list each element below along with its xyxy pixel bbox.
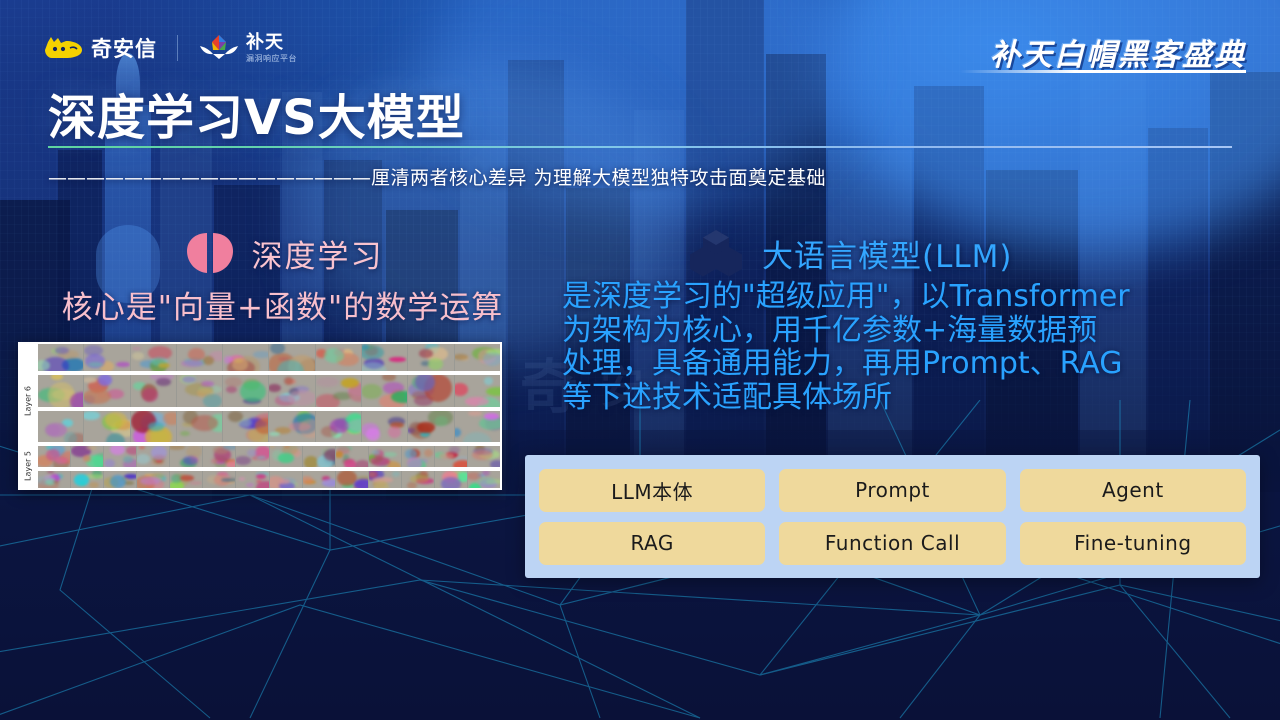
- figure-cell: [177, 375, 222, 407]
- figure-cell: [71, 471, 103, 488]
- brain-icon: [182, 230, 238, 276]
- figure-cell: [38, 471, 70, 488]
- figure-cell: [84, 344, 129, 371]
- subtitle: —————————————————厘清两者核心差异 为理解大模型独特攻击面奠定基…: [48, 163, 1238, 190]
- figure-cell: [408, 344, 453, 371]
- right-heading: 大语言模型(LLM): [762, 231, 1012, 276]
- figure-cell: [38, 411, 83, 442]
- figure-row: [38, 375, 500, 407]
- tech-card-prompt[interactable]: Prompt: [779, 469, 1005, 512]
- tech-card-row: RAG Function Call Fine-tuning: [539, 522, 1246, 565]
- tech-card-llm[interactable]: LLM本体: [539, 469, 765, 512]
- figure-cell: [177, 411, 222, 442]
- title-rule: [48, 146, 1232, 148]
- left-body-text: 核心是"向量+函数"的数学运算: [10, 282, 555, 327]
- figure-cell: [402, 446, 434, 467]
- figure-cell: [170, 446, 202, 467]
- brand-logos: 奇安信 补天 漏洞响应平台: [44, 28, 297, 68]
- butian-logo: 补天 漏洞响应平台: [198, 33, 297, 63]
- subtitle-text: 厘清两者核心差异 为理解大模型独特攻击面奠定基础: [371, 167, 826, 189]
- subtitle-dashes: —————————————————: [48, 167, 371, 189]
- right-heading-row: 大语言模型(LLM): [562, 228, 1268, 278]
- feature-visualization-image: Layer 6 Layer 5: [18, 342, 502, 490]
- figure-layer-labels: Layer 6 Layer 5: [18, 342, 38, 490]
- figure-cell: [131, 375, 176, 407]
- butian-logo-text: 补天 漏洞响应平台: [246, 34, 297, 63]
- figure-panels: [38, 342, 502, 490]
- figure-cell: [137, 446, 169, 467]
- figure-cell: [369, 471, 401, 488]
- figure-cell: [38, 446, 70, 467]
- right-body-text: 是深度学习的"超级应用"，以Transformer 为架构为核心，用千亿参数+海…: [562, 280, 1268, 414]
- figure-row: [38, 446, 500, 467]
- tech-card-panel: LLM本体 Prompt Agent RAG Function Call Fin…: [525, 455, 1260, 578]
- tech-card-agent[interactable]: Agent: [1020, 469, 1246, 512]
- figure-cell: [362, 375, 407, 407]
- figure-cell: [435, 471, 467, 488]
- figure-cell: [455, 375, 500, 407]
- figure-cell: [170, 471, 202, 488]
- left-heading-row: 深度学习: [10, 228, 555, 278]
- figure-cell: [84, 375, 129, 407]
- qax-mascot-icon: [44, 36, 84, 60]
- figure-cell: [236, 471, 268, 488]
- figure-cell: [468, 471, 500, 488]
- left-heading: 深度学习: [252, 231, 384, 276]
- figure-cell: [362, 411, 407, 442]
- figure-cell: [316, 411, 361, 442]
- figure-cell: [38, 344, 83, 371]
- figure-cell: [455, 411, 500, 442]
- right-body-line: 等下述技术适配具体场所: [562, 381, 1268, 415]
- butian-tagline: 漏洞响应平台: [246, 55, 297, 63]
- figure-cell: [177, 344, 222, 371]
- figure-cell: [316, 375, 361, 407]
- figure-row: [38, 411, 500, 442]
- figure-cell: [336, 446, 368, 467]
- page-title: 深度学习VS大模型: [48, 78, 465, 148]
- tech-card-rag[interactable]: RAG: [539, 522, 765, 565]
- butian-name: 补天: [246, 34, 297, 52]
- figure-cell: [223, 375, 268, 407]
- figure-row: [38, 471, 500, 488]
- figure-cell: [369, 446, 401, 467]
- figure-cell: [408, 411, 453, 442]
- figure-cell: [236, 446, 268, 467]
- right-column: 大语言模型(LLM) 是深度学习的"超级应用"，以Transformer 为架构…: [562, 228, 1268, 414]
- right-body-line: 是深度学习的"超级应用"，以Transformer: [562, 280, 1268, 314]
- figure-cell: [402, 471, 434, 488]
- tech-card-fine-tuning[interactable]: Fine-tuning: [1020, 522, 1246, 565]
- figure-cell: [71, 446, 103, 467]
- butian-diamond-icon: [198, 33, 240, 63]
- right-body-line: 处理，具备通用能力，再用Prompt、RAG: [562, 347, 1268, 381]
- figure-cell: [336, 471, 368, 488]
- figure-cell: [269, 411, 314, 442]
- slide-root: 奇 安 奇安信 补天: [0, 0, 1280, 720]
- figure-cell: [203, 446, 235, 467]
- figure-cell: [455, 344, 500, 371]
- figure-cell: [137, 471, 169, 488]
- figure-cell: [131, 411, 176, 442]
- figure-cell: [269, 375, 314, 407]
- figure-cell: [104, 446, 136, 467]
- figure-cell: [303, 471, 335, 488]
- figure-cell: [270, 446, 302, 467]
- figure-cell: [362, 344, 407, 371]
- tech-card-row: LLM本体 Prompt Agent: [539, 469, 1246, 512]
- figure-cell: [468, 446, 500, 467]
- cube-cluster-icon: [688, 228, 744, 278]
- figure-cell: [270, 471, 302, 488]
- qax-logo: 奇安信: [44, 33, 157, 63]
- figure-cell: [38, 375, 83, 407]
- left-column: 深度学习 核心是"向量+函数"的数学运算: [10, 228, 555, 327]
- figure-cell: [104, 471, 136, 488]
- figure-label-layer6: Layer 6: [24, 386, 33, 416]
- figure-cell: [408, 375, 453, 407]
- figure-cell: [223, 411, 268, 442]
- right-body-line: 为架构为核心，用千亿参数+海量数据预: [562, 314, 1268, 348]
- qax-logo-text: 奇安信: [91, 33, 157, 63]
- figure-cell: [131, 344, 176, 371]
- figure-cell: [316, 344, 361, 371]
- event-logo-underline: [960, 70, 1246, 73]
- figure-cell: [84, 411, 129, 442]
- logo-divider: [177, 35, 178, 61]
- figure-row: [38, 344, 500, 371]
- event-logo: 补天白帽黑客盛典: [990, 30, 1246, 74]
- figure-cell: [435, 446, 467, 467]
- figure-cell: [223, 344, 268, 371]
- figure-cell: [203, 471, 235, 488]
- tech-card-function-call[interactable]: Function Call: [779, 522, 1005, 565]
- figure-cell: [269, 344, 314, 371]
- figure-label-layer5: Layer 5: [24, 451, 33, 481]
- figure-cell: [303, 446, 335, 467]
